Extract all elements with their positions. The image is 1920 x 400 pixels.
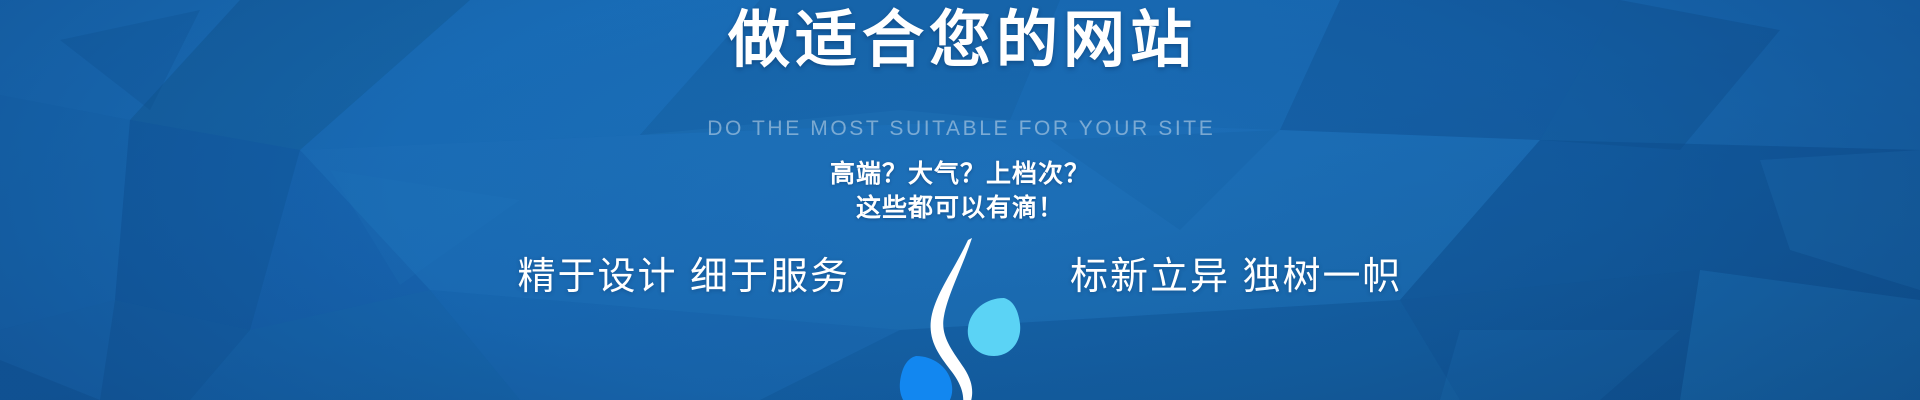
slogan-left: 精于设计 细于服务 (450, 240, 894, 296)
slogan-row: 精于设计 细于服务 标新立异 独树一帜 (0, 240, 1920, 400)
hero-banner: 做适合您的网站 DO THE MOST SUITABLE FOR YOUR SI… (0, 0, 1920, 400)
banner-subhead-english: DO THE MOST SUITABLE FOR YOUR SITE (705, 117, 1216, 140)
tagline-line-2: 这些都可以有滴！ (830, 191, 1090, 226)
tagline-line-1: 高端？大气？上档次？ (830, 157, 1090, 192)
slogan-right: 标新立异 独树一帜 (1024, 240, 1470, 296)
banner-content: 做适合您的网站 DO THE MOST SUITABLE FOR YOUR SI… (0, 0, 1920, 400)
banner-headline: 做适合您的网站 (723, 8, 1197, 75)
tagline-block: 高端？大气？上档次？ 这些都可以有滴！ (830, 157, 1090, 226)
leaf-sprout-logo-icon (894, 236, 1024, 400)
